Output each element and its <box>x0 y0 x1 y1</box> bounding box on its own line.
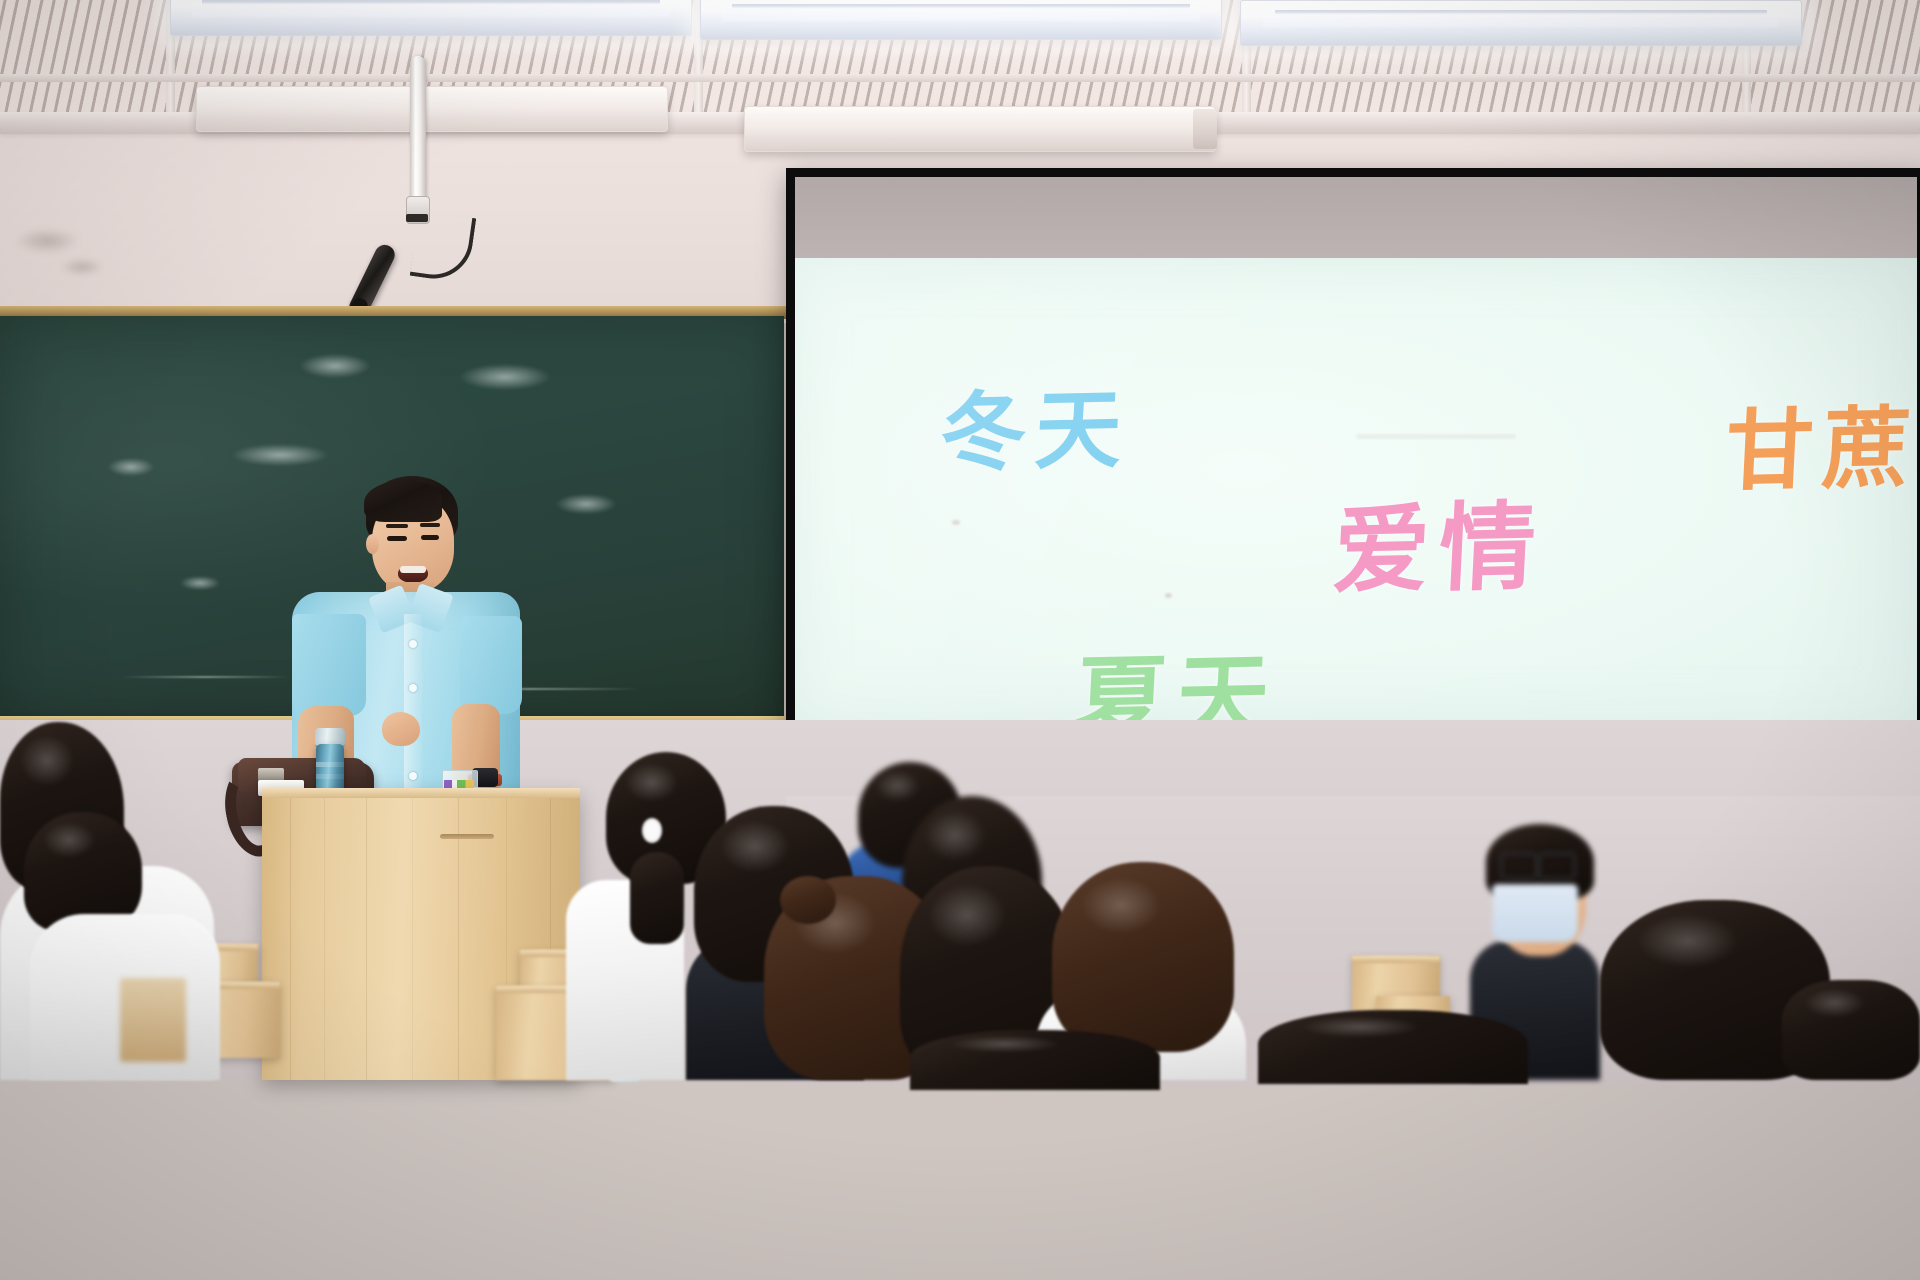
lecturer-eyebrow <box>386 524 408 528</box>
pull-down-projection-screen[interactable]: 冬天 爱情 夏天 甘蔗 <box>786 168 1920 798</box>
student-glasses <box>1538 852 1576 880</box>
screen-band-top <box>795 177 1917 258</box>
ceiling-grid-rail <box>0 74 1920 82</box>
student-face-mask <box>1492 884 1578 942</box>
lecturer-eye <box>421 535 439 540</box>
student-brown-hair <box>1052 862 1234 1052</box>
lecturer-shirt-button <box>409 684 417 692</box>
student-foreground-center-hair <box>910 1030 1160 1090</box>
student-bun-knot <box>780 876 836 924</box>
wall-smudge <box>14 228 80 254</box>
student-foreground-right-hair <box>1258 1010 1528 1084</box>
student-ponytail-hair-tie <box>642 818 662 843</box>
fluorescent-light-right <box>1240 0 1802 46</box>
slide-word-sugarcane: 甘蔗 <box>1723 377 1917 508</box>
wall-smudge <box>60 258 104 276</box>
microphone-pole <box>410 56 426 206</box>
lecturer-sleeve-left <box>292 614 366 716</box>
slide-word-love: 爱情 <box>1330 469 1548 612</box>
classroom-scene: 冬天 爱情 夏天 甘蔗 <box>0 0 1920 1280</box>
projection-screen-housing <box>744 106 1216 152</box>
desk-right-edge <box>1352 956 1440 963</box>
lecturer-hand <box>382 712 420 746</box>
slide-word-winter: 冬天 <box>938 359 1134 488</box>
fluorescent-light-center <box>700 0 1222 40</box>
chair-back-left <box>120 978 186 1062</box>
lecturer-eyebrow <box>420 523 440 527</box>
lecturer-sleeve-right <box>460 616 522 714</box>
student-far-right-edge-hair <box>1782 980 1920 1080</box>
lecturer-eye <box>387 536 407 541</box>
podium-top-edge <box>262 788 580 798</box>
ceiling-valance-left <box>196 86 668 132</box>
lecturer-hair-front <box>364 480 442 522</box>
lecturer-shirt-button <box>409 640 417 648</box>
lecturer-shirt-button <box>409 772 417 780</box>
fluorescent-light-left <box>170 0 692 36</box>
student-ponytail-tail <box>630 852 684 944</box>
lecturer-mouth <box>398 566 428 583</box>
student-glasses <box>1500 852 1538 880</box>
lecturer-ear <box>366 534 379 554</box>
podium-slot <box>440 834 494 839</box>
